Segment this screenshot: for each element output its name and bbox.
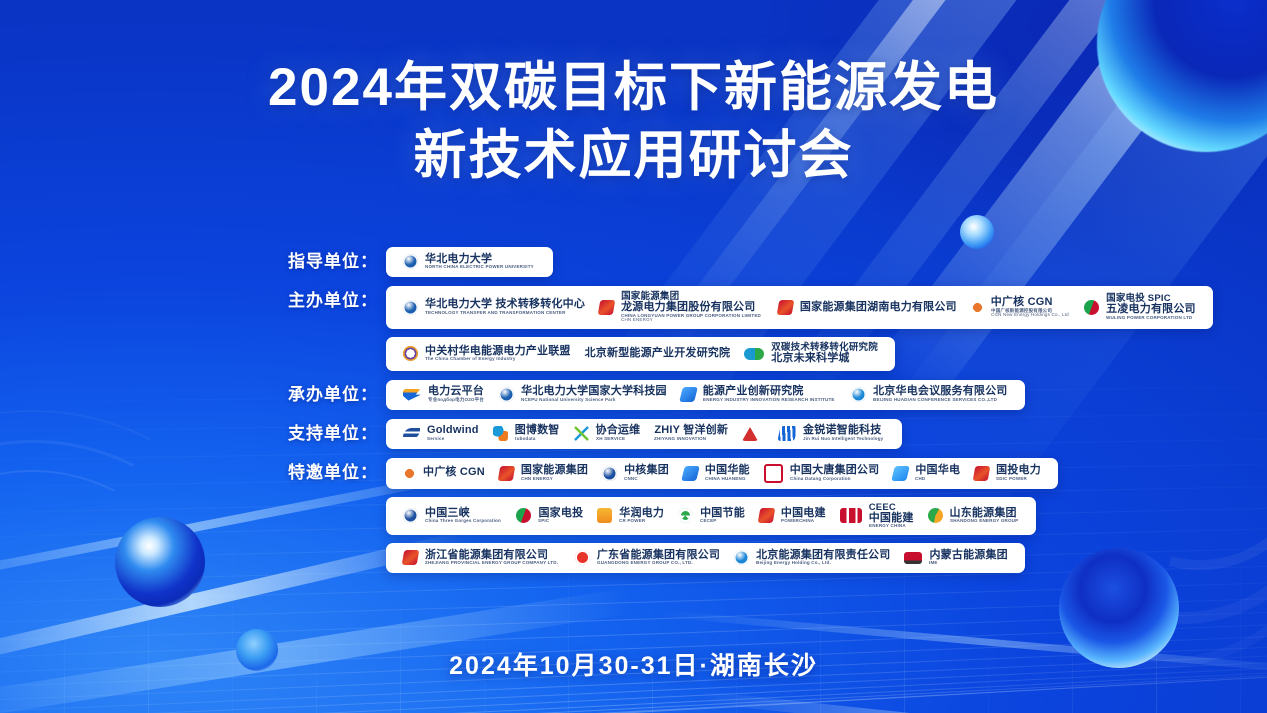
partner-logo: 华北电力大学国家大学科技园NCEPU National University S… [492, 384, 674, 404]
partner-logo: 中核集团CNNC [595, 463, 676, 483]
partner-name-en: SDIC POWER [996, 477, 1040, 482]
logo-card: GoldwindService图博数智tubodata协合运维XH SERVIC… [386, 419, 902, 449]
credit-card-stack: 电力云平台专业подбор电力O2O平台华北电力大学国家大学科技园NCEPU N… [386, 380, 1025, 410]
partner-logo: 北京能源集团有限责任公司Beijing Energy Holding Co., … [727, 548, 897, 568]
partner-logo: CEEC中国能建ENERGY CHINA [833, 501, 921, 531]
spic-icon [1084, 300, 1099, 315]
credits-section: 指导单位：华北电力大学NORTH CHINA ELECTRIC POWER UN… [0, 247, 1267, 582]
partner-name-en: POWERCHINA [781, 519, 825, 524]
cgn-text-icon [971, 300, 984, 315]
partner-logo: 金锐诺智能科技Jin Rui Nuo Intelligent Technolog… [772, 423, 892, 443]
partner-name-cn: 国家能源集团 [521, 465, 588, 477]
partner-logo: 国家能源集团龙源电力集团股份有限公司CHINA LONGYUAN POWER G… [592, 290, 771, 325]
credit-card-stack: 华北电力大学 技术转移转化中心TECHNOLOGY TRANSFER AND T… [386, 286, 1213, 371]
partner-logo: 山东能源集团SHANDONG ENERGY GROUP [921, 506, 1027, 526]
partner-name-cn: 中广核 CGN [423, 467, 485, 479]
title-line-1: 2024年双碳目标下新能源发电 [0, 58, 1267, 118]
partner-logo: GoldwindService [396, 423, 486, 443]
ime-icon [904, 552, 922, 564]
cloud-wave-icon [403, 389, 421, 401]
partner-logo: 国投电力SDIC POWER [967, 463, 1048, 483]
credit-label: 特邀单位： [0, 458, 386, 488]
partner-logo: 华北电力大学 技术转移转化中心TECHNOLOGY TRANSFER AND T… [396, 297, 592, 317]
partner-name-cn: 内蒙古能源集团 [929, 550, 1007, 562]
credit-group-3: 支持单位：GoldwindService图博数智tubodata协合运维XH S… [0, 419, 1267, 449]
partner-name-en: WULING POWER CORPORATION LTD [1106, 316, 1194, 321]
credit-card-stack: 华北电力大学NORTH CHINA ELECTRIC POWER UNIVERS… [386, 247, 553, 277]
partner-name-en: XH SERVICE [596, 437, 640, 442]
partner-logo: 国家能源集团湖南电力有限公司 [771, 298, 964, 317]
datang-icon [764, 464, 783, 483]
chd-icon [891, 466, 910, 481]
chn-energy-icon [777, 300, 795, 315]
beh-icon [734, 550, 749, 565]
cnnc-icon [602, 466, 617, 481]
partner-name-en-secondary: CHN ENERGY [621, 318, 761, 323]
eiiri-icon [679, 387, 698, 402]
partner-name-cn: 龙源电力集团股份有限公司 [621, 302, 764, 314]
partner-logo: 中国华电CHD [886, 463, 967, 483]
credit-label: 承办单位： [0, 380, 386, 410]
partner-name-en: NORTH CHINA ELECTRIC POWER UNIVERSITY [425, 265, 534, 270]
partner-name-en: Service [427, 437, 478, 442]
logo-card: 中广核 CGN国家能源集团CHN ENERGY中核集团CNNC中国华能CHINA… [386, 458, 1058, 489]
ncepu-seal-icon [403, 254, 418, 269]
partner-logo: 电力云平台专业подбор电力O2O平台 [396, 384, 492, 404]
credit-group-0: 指导单位：华北电力大学NORTH CHINA ELECTRIC POWER UN… [0, 247, 1267, 277]
ttri-icon [744, 348, 764, 360]
logo-card: 中国三峡China Three Gorges Corporation国家电投SP… [386, 497, 1036, 535]
partner-name-en: ZHEJIANG PROVINCIAL ENERGY GROUP COMPANY… [425, 561, 558, 566]
partner-name-en: CHINA HUANENG [705, 477, 749, 482]
sdic-icon [973, 466, 991, 481]
ceec-icon [840, 508, 862, 523]
partner-name-en: ZHIYANG INNOVATION [654, 437, 726, 442]
credit-card-stack: GoldwindService图博数智tubodata协合运维XH SERVIC… [386, 419, 902, 449]
partner-logo: 中关村华电能源电力产业联盟The China Chamber of Energy… [396, 344, 578, 364]
partner-logo: 中国三峡China Three Gorges Corporation [396, 506, 509, 526]
partner-logo: 中广核 CGN [396, 464, 492, 483]
partner-name-en: China Datang Corporation [790, 477, 878, 482]
partner-logo: 中国大唐集团公司China Datang Corporation [757, 462, 887, 485]
partner-name-en: SHANDONG ENERGY GROUP [950, 519, 1018, 524]
chn-energy-icon [498, 466, 516, 481]
logo-card: 华北电力大学 技术转移转化中心TECHNOLOGY TRANSFER AND T… [386, 286, 1213, 329]
logo-card: 华北电力大学NORTH CHINA ELECTRIC POWER UNIVERS… [386, 247, 553, 277]
partner-name-en: IME [929, 561, 1006, 566]
ncepu-seal-icon [403, 300, 418, 315]
credit-label: 主办单位： [0, 286, 386, 316]
crpower-icon [597, 508, 612, 523]
event-date-location: 2024年10月30-31日·湖南长沙 [0, 646, 1267, 682]
partner-logo: 国家能源集团CHN ENERGY [492, 463, 595, 483]
partner-name-cn: 中广核 CGN [991, 297, 1070, 309]
partner-name-en: 专业подбор电力O2O平台 [428, 398, 484, 403]
jrn-icon [777, 426, 797, 441]
partner-logo: 北京新型能源产业开发研究院 [578, 346, 738, 362]
partner-name-en: CECEP [700, 519, 744, 524]
credit-group-1: 主办单位：华北电力大学 技术转移转化中心TECHNOLOGY TRANSFER … [0, 286, 1267, 371]
xiehe-x-icon [574, 426, 589, 441]
partner-name-en: CHD [915, 477, 959, 482]
partner-name-en: CNNC [624, 477, 668, 482]
logo-card: 中关村华电能源电力产业联盟The China Chamber of Energy… [386, 337, 895, 371]
credit-label: 支持单位： [0, 419, 386, 449]
huaneng-icon [681, 466, 700, 481]
partner-name-en: TECHNOLOGY TRANSFER AND TRANSFORMATION C… [425, 311, 582, 316]
logo-card: 浙江省能源集团有限公司ZHEJIANG PROVINCIAL ENERGY GR… [386, 543, 1025, 573]
partner-name-en: Jin Rui Nuo Intelligent Technology [803, 437, 883, 442]
partner-logo: ZHIY 智洋创新ZHIYANG INNOVATION [647, 423, 735, 443]
decorative-sphere-small-right [960, 215, 994, 249]
credit-group-2: 承办单位：电力云平台专业подбор电力O2O平台华北电力大学国家大学科技园NC… [0, 380, 1267, 410]
cgn-text-icon [403, 466, 416, 481]
cceti-icon [403, 346, 418, 361]
partner-name-en: The China Chamber of Energy Industry [425, 357, 568, 362]
partner-logo: 图博数智tubodata [486, 423, 567, 443]
zjenergy-icon [402, 550, 420, 565]
title-line-2: 新技术应用研讨会 [0, 126, 1267, 186]
cecep-icon [678, 508, 693, 523]
partner-name-en: CR POWER [619, 519, 663, 524]
goldwind-icon [403, 428, 420, 439]
credit-label: 指导单位： [0, 247, 386, 277]
partner-name-cn: 中国大唐集团公司 [790, 465, 880, 477]
partner-name-cn: 国投电力 [996, 465, 1041, 477]
logo-card: 电力云平台专业подбор电力O2O平台华北电力大学国家大学科技园NCEPU N… [386, 380, 1025, 410]
partner-name-en-secondary: CGN New Energy Holdings Co., Ltd [991, 313, 1069, 318]
partner-name-cn: 国家能源集团湖南电力有限公司 [800, 302, 957, 314]
partner-logo: 内蒙古能源集团IME [897, 548, 1014, 568]
conference-poster: 2024年双碳目标下新能源发电 新技术应用研讨会 指导单位：华北电力大学NORT… [0, 0, 1267, 713]
sdenergy-icon [928, 508, 943, 523]
partner-name-en: SPIC [538, 519, 582, 524]
credit-card-stack: 中广核 CGN国家能源集团CHN ENERGY中核集团CNNC中国华能CHINA… [386, 458, 1058, 573]
partner-logo: 华润电力CR POWER [590, 506, 671, 526]
partner-name-en: NCEPU National University Science Park [521, 398, 664, 403]
partner-name-cn: 北京新型能源产业开发研究院 [585, 348, 731, 360]
huadian-conf-icon [851, 387, 866, 402]
tubodata-icon [493, 426, 508, 441]
partner-logo: 国家电投 SPIC五凌电力有限公司WULING POWER CORPORATIO… [1077, 292, 1203, 322]
partner-logo: 能源产业创新研究院ENERGY INDUSTRY INNOVATION RESE… [674, 384, 844, 404]
spic-icon [516, 508, 531, 523]
partner-name-cn: 中国华电 [915, 465, 960, 477]
partner-logo: 协合运维XH SERVICE [567, 423, 648, 443]
partner-name-en: BEIJING HUADIAN CONFERENCE SERVICES CO.,… [873, 398, 1005, 403]
partner-name-en: CHN ENERGY [521, 477, 587, 482]
partner-name-cn: 中国华能 [705, 465, 750, 477]
red-a-icon [742, 427, 758, 441]
partner-name-en: GUANGDONG ENERGY GROUP CO., LTD. [597, 561, 718, 566]
partner-logo: 北京华电会议服务有限公司BEIJING HUADIAN CONFERENCE S… [844, 384, 1014, 404]
partner-logo: 广东省能源集团有限公司GUANGDONG ENERGY GROUP CO., L… [568, 548, 727, 568]
partner-name-en: Beijing Energy Holding Co., Ltd. [756, 561, 888, 566]
partner-logo: 浙江省能源集团有限公司ZHEJIANG PROVINCIAL ENERGY GR… [396, 548, 568, 568]
ctg-icon [403, 508, 418, 523]
powerchina-icon [758, 508, 776, 523]
credit-group-4: 特邀单位：中广核 CGN国家能源集团CHN ENERGY中核集团CNNC中国华能… [0, 458, 1267, 573]
chn-energy-icon [598, 300, 616, 315]
partner-logo: 双碳技术转移转化研究院北京未来科学城 [737, 341, 885, 367]
partner-logo: 中国华能CHINA HUANENG [676, 463, 757, 483]
partner-logo: 中广核 CGN中国广核新能源控股有限公司CGN New Energy Holdi… [964, 295, 1077, 320]
partner-name-en: tubodata [515, 437, 559, 442]
partner-logo: 华北电力大学NORTH CHINA ELECTRIC POWER UNIVERS… [396, 252, 543, 272]
partner-name-en: ENERGY CHINA [869, 524, 913, 529]
ncepu-seal-icon [499, 387, 514, 402]
poster-title: 2024年双碳目标下新能源发电 新技术应用研讨会 [0, 58, 1267, 187]
gdenergy-icon [575, 550, 590, 565]
partner-logo: 中国节能CECEP [671, 506, 752, 526]
partner-name-cn: 北京未来科学城 [771, 353, 878, 365]
partner-logo: 中国电建POWERCHINA [752, 506, 833, 526]
partner-name-cn: 中核集团 [624, 465, 669, 477]
partner-logo [735, 425, 772, 443]
partner-name-en: ENERGY INDUSTRY INNOVATION RESEARCH INST… [703, 398, 835, 403]
partner-name-en: China Three Gorges Corporation [425, 519, 501, 524]
partner-logo: 国家电投SPIC [509, 506, 590, 526]
